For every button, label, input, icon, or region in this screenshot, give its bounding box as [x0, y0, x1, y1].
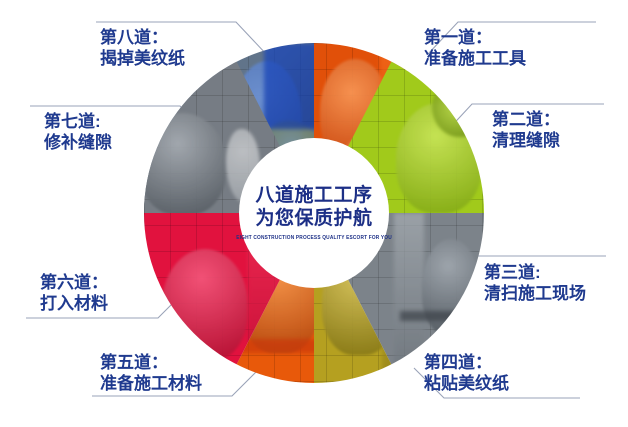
step-2-index: 第二道： — [492, 109, 560, 130]
step-label-2[interactable]: 第二道： 清理缝隙 — [492, 109, 560, 151]
step-1-name: 准备施工工具 — [424, 48, 526, 69]
step-label-3[interactable]: 第三道: 清扫施工现场 — [484, 262, 586, 304]
step-2-name: 清理缝隙 — [492, 130, 560, 151]
step-4-name: 粘贴美纹纸 — [424, 373, 509, 394]
step-3-name: 清扫施工现场 — [484, 283, 586, 304]
hub-line-1: 八道施工工序 — [255, 185, 372, 207]
step-label-1[interactable]: 第一道： 准备施工工具 — [424, 27, 526, 69]
infographic-stage: 八道施工工序 为您保质护航 EIGHT CONSTRUCTION PROCESS… — [0, 0, 628, 427]
step-7-name: 修补缝隙 — [44, 132, 112, 153]
hub-subtitle: EIGHT CONSTRUCTION PROCESS QUALITY ESCOR… — [236, 235, 392, 241]
step-6-name: 打入材料 — [40, 293, 108, 314]
hub-line-2: 为您保质护航 — [255, 208, 372, 230]
step-7-index: 第七道: — [44, 111, 112, 132]
step-label-8[interactable]: 第八道： 揭掉美纹纸 — [100, 27, 185, 69]
step-4-index: 第四道： — [424, 352, 509, 373]
step-1-index: 第一道： — [424, 27, 526, 48]
step-8-index: 第八道： — [100, 27, 185, 48]
step-label-7[interactable]: 第七道: 修补缝隙 — [44, 111, 112, 153]
step-3-index: 第三道: — [484, 262, 586, 283]
step-label-6[interactable]: 第六道： 打入材料 — [40, 272, 108, 314]
step-5-index: 第五道： — [100, 352, 202, 373]
step-6-index: 第六道： — [40, 272, 108, 293]
center-hub: 八道施工工序 为您保质护航 EIGHT CONSTRUCTION PROCESS… — [239, 138, 389, 288]
step-label-5[interactable]: 第五道： 准备施工材料 — [100, 352, 202, 394]
step-label-4[interactable]: 第四道： 粘贴美纹纸 — [424, 352, 509, 394]
step-8-name: 揭掉美纹纸 — [100, 48, 185, 69]
step-5-name: 准备施工材料 — [100, 373, 202, 394]
